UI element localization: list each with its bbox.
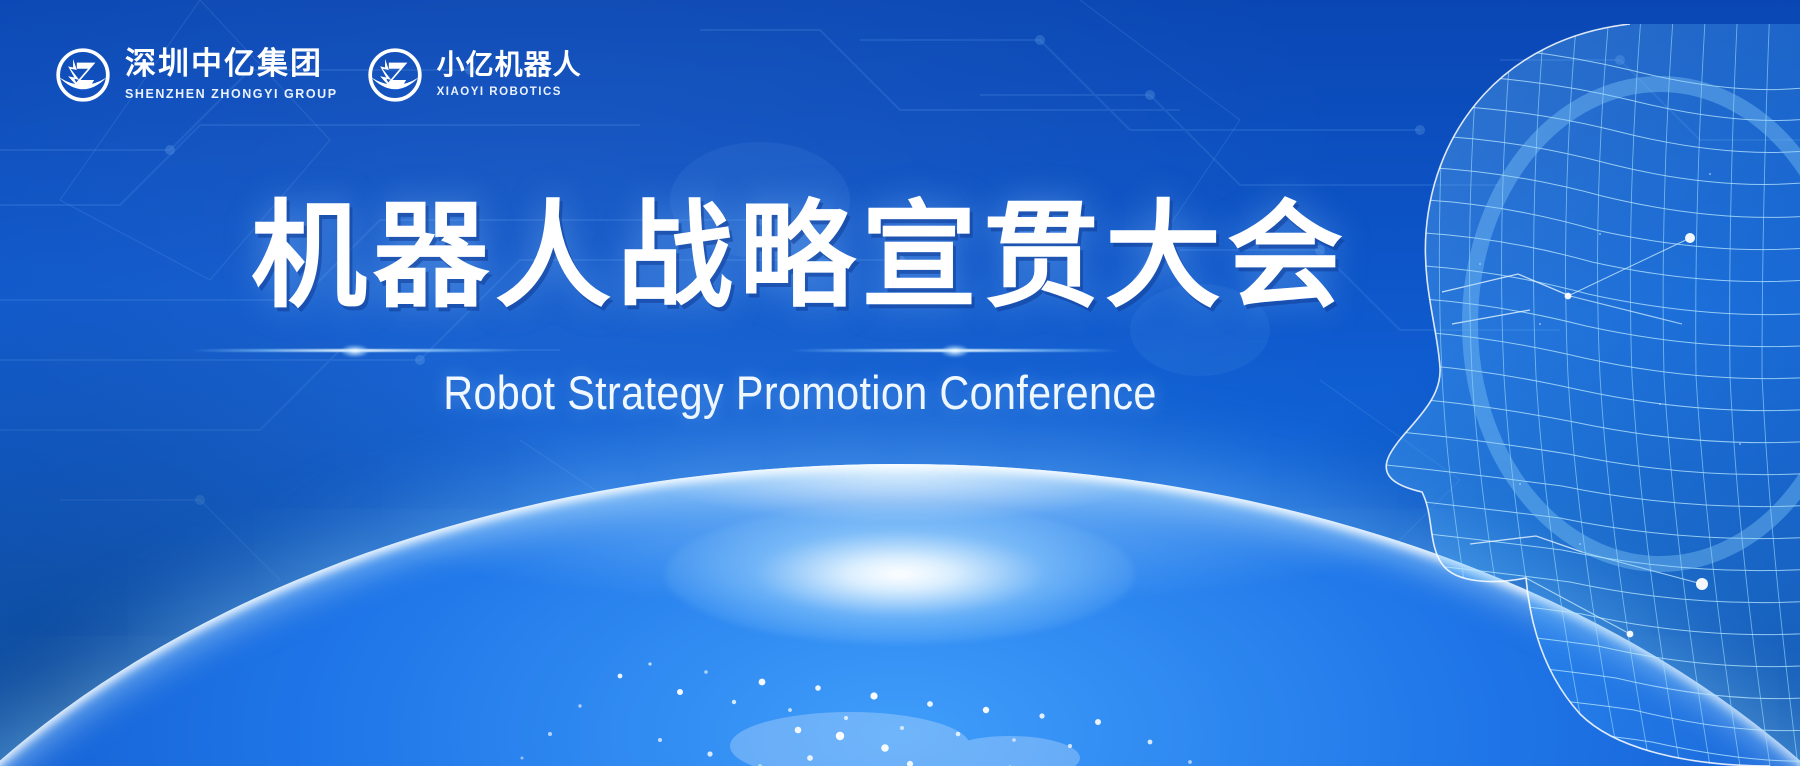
- light-flare-left-icon: [190, 349, 520, 352]
- sun-glow-core: [665, 504, 1135, 644]
- earth-atmosphere-rim: [0, 464, 1800, 766]
- hero-title-block: 机器人战略宣贯大会: [0, 196, 1800, 318]
- logo-text-group: 深圳中亿集团 SHENZHEN ZHONGYI GROUP: [125, 49, 338, 101]
- logo-en-name: XIAOYI ROBOTICS: [437, 87, 582, 99]
- logo-xiaoyi-robotics: 小亿机器人 XIAOYI ROBOTICS: [364, 44, 582, 106]
- conference-banner: 深圳中亿集团 SHENZHEN ZHONGYI GROUP 小亿机器人 XIAO…: [0, 0, 1800, 766]
- logo-cn-name: 深圳中亿集团: [125, 49, 338, 80]
- logo-en-name: SHENZHEN ZHONGYI GROUP: [125, 88, 338, 101]
- logo-row: 深圳中亿集团 SHENZHEN ZHONGYI GROUP 小亿机器人 XIAO…: [52, 44, 582, 106]
- earth-sphere: [0, 464, 1800, 766]
- earth-city-lights-icon: [150, 496, 1650, 766]
- page-subtitle: Robot Strategy Promotion Conference: [0, 365, 1680, 420]
- light-flare-right-icon: [790, 349, 1120, 352]
- page-title: 机器人战略宣贯大会: [251, 196, 1349, 318]
- xiaoyi-circle-z-emblem-icon: [364, 44, 426, 106]
- sunrise-light-burst-icon: [276, 408, 1476, 738]
- logo-cn-name: 小亿机器人: [437, 51, 582, 79]
- logo-shenzhen-zhongyi-group: 深圳中亿集团 SHENZHEN ZHONGYI GROUP: [52, 44, 338, 106]
- light-flare-divider-group: [0, 343, 1800, 361]
- zhongyi-circle-z-emblem-icon: [52, 44, 114, 106]
- logo-text-group: 小亿机器人 XIAOYI ROBOTICS: [437, 51, 582, 99]
